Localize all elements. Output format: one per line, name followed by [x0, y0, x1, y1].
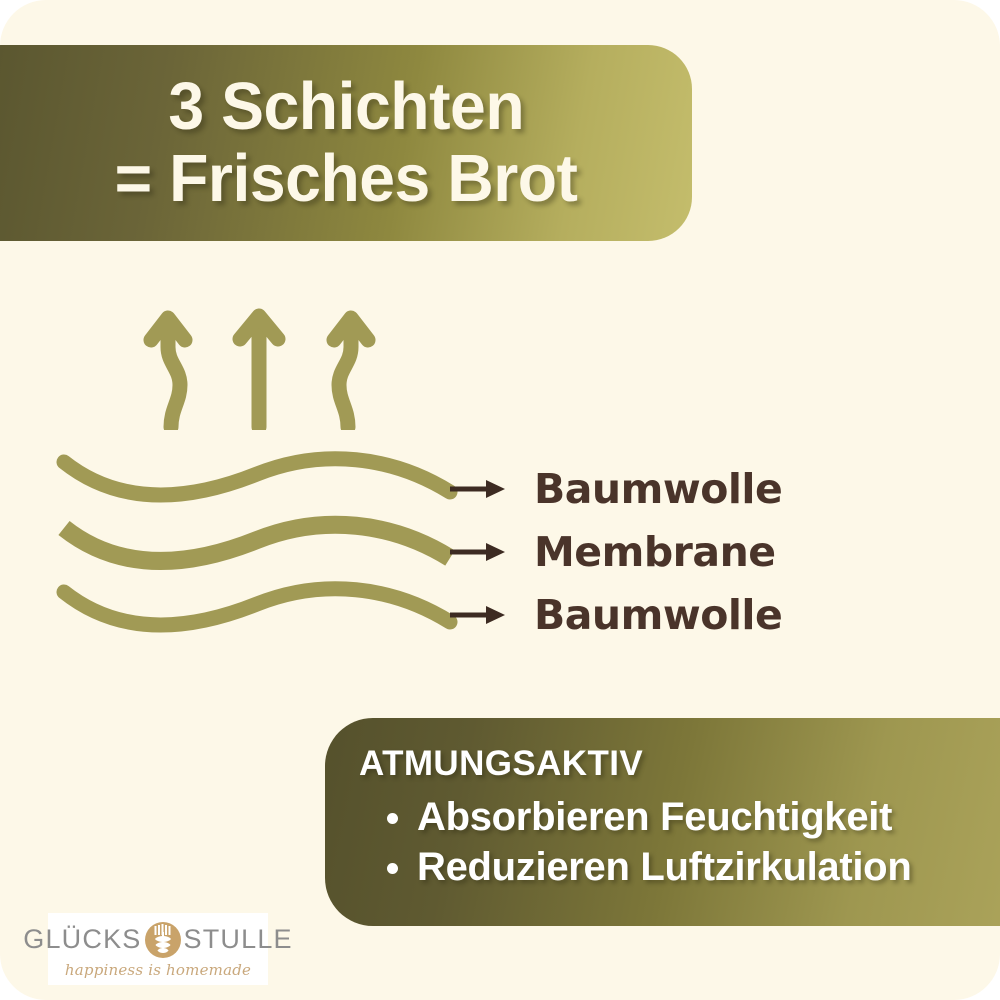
header-banner: 3 Schichten = Frisches Brot — [0, 45, 692, 241]
arrow-right-icon — [448, 477, 508, 501]
badge-bullet-item: Absorbieren Feuchtigkeit — [381, 792, 1000, 842]
layer-label-row-bottom: Baumwolle — [448, 583, 878, 646]
logo-wordmark: GLÜCKS STULLE — [23, 920, 292, 960]
layer-label-row-middle: Membrane — [448, 520, 878, 583]
brand-logo: GLÜCKS STULLE happiness is homemade — [48, 913, 268, 985]
steam-arrow-straight-middle — [240, 316, 278, 427]
layer-wave-bottom — [64, 589, 450, 625]
layer-label-top: Baumwolle — [534, 465, 782, 513]
logo-word-right: STULLE — [184, 924, 293, 955]
header-title-line2: = Frisches Brot — [115, 145, 578, 213]
badge-title: ATMUNGSAKTIV — [359, 744, 1000, 784]
logo-word-left: GLÜCKS — [23, 924, 141, 955]
steam-arrow-wavy-left — [151, 318, 185, 427]
layer-label-row-top: Baumwolle — [448, 457, 878, 520]
layer-labels: Baumwolle Membrane Baumwolle — [448, 452, 878, 646]
header-title-line1: 3 Schichten — [168, 73, 524, 141]
layer-label-bottom: Baumwolle — [534, 591, 782, 639]
layer-wave-middle — [64, 525, 450, 561]
wheat-emblem-icon — [144, 921, 182, 959]
infographic-canvas: 3 Schichten = Frisches Brot — [0, 0, 1000, 1000]
fabric-layer-waves — [52, 440, 472, 640]
feature-badge: ATMUNGSAKTIV Absorbieren Feuchtigkeit Re… — [325, 718, 1000, 926]
steam-arrow-wavy-right — [334, 318, 368, 427]
steam-arrows-group — [138, 305, 383, 430]
badge-bullet-list: Absorbieren Feuchtigkeit Reduzieren Luft… — [359, 792, 1000, 892]
layer-wave-top — [64, 459, 450, 495]
layer-label-middle: Membrane — [534, 528, 776, 576]
badge-bullet-item: Reduzieren Luftzirkulation — [381, 842, 1000, 892]
arrow-right-icon — [448, 603, 508, 627]
arrow-right-icon — [448, 540, 508, 564]
logo-tagline: happiness is homemade — [65, 961, 251, 979]
